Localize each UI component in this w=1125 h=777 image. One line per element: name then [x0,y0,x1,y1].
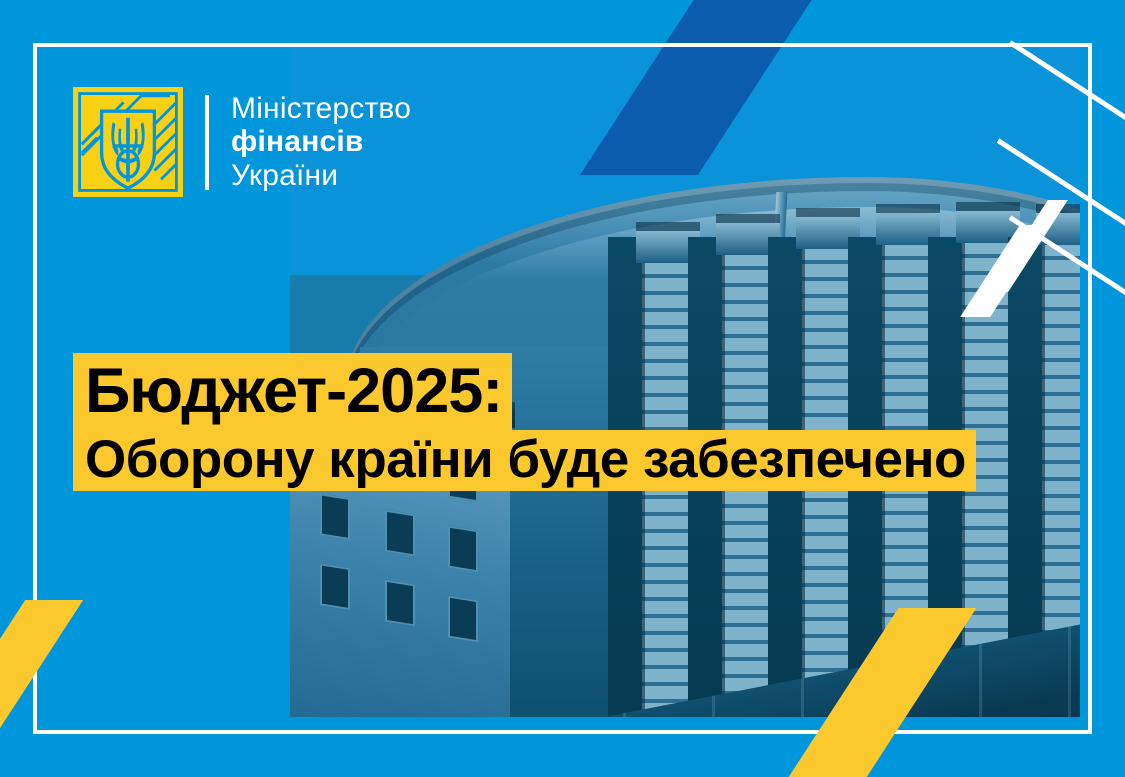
ukraine-trident-shield-icon [73,87,183,197]
headline-block: Бюджет-2025: Оборону країни буде забезпе… [73,353,976,491]
window [448,596,478,643]
window [448,526,478,573]
headline-line-1: Бюджет-2025: [73,353,512,430]
logo-line-1: Міністерство [231,92,411,126]
window [320,563,350,610]
window [385,580,415,627]
headline-line-2: Оборону країни буде забезпечено [73,430,976,491]
window [320,493,350,540]
ministry-logo: Міністерство фінансів України [73,87,411,197]
window [385,510,415,557]
poster-canvas: Міністерство фінансів України Бюджет-202… [0,0,1125,777]
logo-line-2: фінансів [231,125,411,159]
logo-divider [205,95,209,190]
logo-wordmark: Міністерство фінансів України [231,92,411,193]
logo-line-3: України [231,159,411,193]
yellow-parallelogram-bottom-left-icon [0,600,83,770]
